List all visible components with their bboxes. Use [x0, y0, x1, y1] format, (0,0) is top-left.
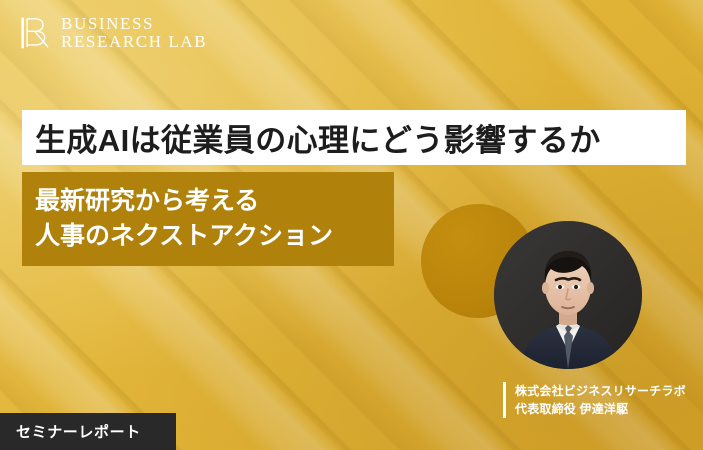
brand-name-line-1: BUSINESS [61, 15, 207, 33]
speaker-credit: 株式会社ビジネスリサーチラボ 代表取締役 伊達洋駆 [503, 382, 686, 418]
page-title: 生成AIは従業員の心理にどう影響するか [35, 115, 601, 160]
seminar-report-poster: BUSINESS RESEARCH LAB [0, 0, 703, 450]
category-badge-label: セミナーレポート [16, 421, 141, 442]
subtitle-line-2: 人事のネクストアクション [35, 219, 394, 255]
category-badge: セミナーレポート [0, 413, 176, 450]
br-monogram-icon [18, 14, 52, 52]
speaker-portrait-circle [494, 221, 642, 369]
brand-wordmark: BUSINESS RESEARCH LAB [61, 15, 207, 52]
subtitle-box: 最新研究から考える 人事のネクストアクション [22, 172, 394, 266]
brand-name-line-2: RESEARCH LAB [61, 33, 207, 51]
credit-text-block: 株式会社ビジネスリサーチラボ 代表取締役 伊達洋駆 [515, 382, 686, 418]
title-bar: 生成AIは従業員の心理にどう影響するか [22, 110, 686, 165]
speaker-role-and-name: 代表取締役 伊達洋駆 [515, 400, 686, 418]
subtitle-line-1: 最新研究から考える [35, 184, 394, 220]
speaker-portrait-illustration [494, 221, 642, 369]
speaker-company: 株式会社ビジネスリサーチラボ [515, 382, 686, 400]
credit-divider [503, 382, 506, 418]
brand-logo: BUSINESS RESEARCH LAB [18, 14, 207, 52]
